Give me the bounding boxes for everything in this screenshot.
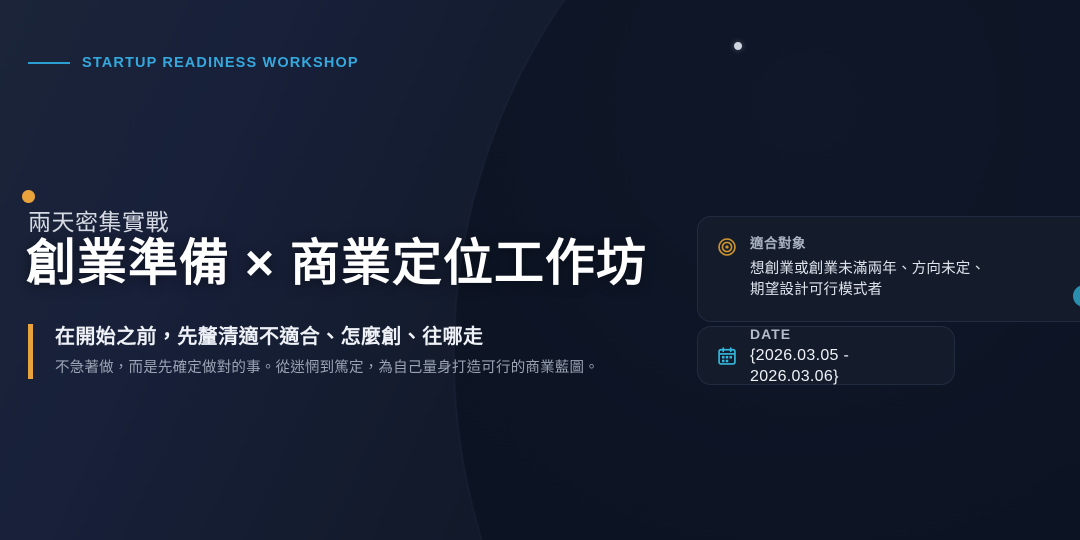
info-card-date-label: DATE — [750, 325, 936, 343]
info-card-audience[interactable]: 適合對象 想創業或創業未滿兩年、方向未定、 期望設計可行模式者 — [697, 216, 1080, 322]
info-card-audience-value: 想創業或創業未滿兩年、方向未定、 期望設計可行模式者 — [750, 259, 985, 301]
target-icon — [717, 237, 737, 257]
calendar-icon — [717, 346, 737, 366]
info-card-date-value: {2026.03.05 - 2026.03.06} — [750, 345, 936, 387]
info-card-date[interactable]: DATE {2026.03.05 - 2026.03.06} — [697, 326, 955, 385]
info-card-audience-body: 適合對象 想創業或創業未滿兩年、方向未定、 期望設計可行模式者 — [750, 235, 985, 301]
lede-block: 在開始之前，先釐清適不適合、怎麼創、往哪走 不急著做，而是先確定做對的事。從迷惘… — [28, 324, 688, 379]
banner-root: STARTUP READINESS WORKSHOP 兩天密集實戰 創業準備 ×… — [0, 0, 1080, 540]
teal-dot-icon — [1073, 285, 1080, 307]
eyebrow: STARTUP READINESS WORKSHOP — [28, 55, 359, 71]
lede-subtext: 不急著做，而是先確定做對的事。從迷惘到篤定，為自己量身打造可行的商業藍圖。 — [55, 358, 688, 379]
page-title: 創業準備 × 商業定位工作坊 — [26, 234, 647, 292]
lede-headline: 在開始之前，先釐清適不適合、怎麼創、往哪走 — [55, 324, 688, 351]
horizontal-rule-icon — [28, 62, 70, 64]
info-card-date-body: DATE {2026.03.05 - 2026.03.06} — [750, 325, 936, 387]
info-card-audience-label: 適合對象 — [750, 235, 985, 253]
amber-dot-icon — [22, 190, 35, 203]
spark-dot-icon — [734, 42, 742, 50]
headline-kicker: 兩天密集實戰 — [28, 203, 169, 237]
eyebrow-label: STARTUP READINESS WORKSHOP — [82, 55, 359, 71]
